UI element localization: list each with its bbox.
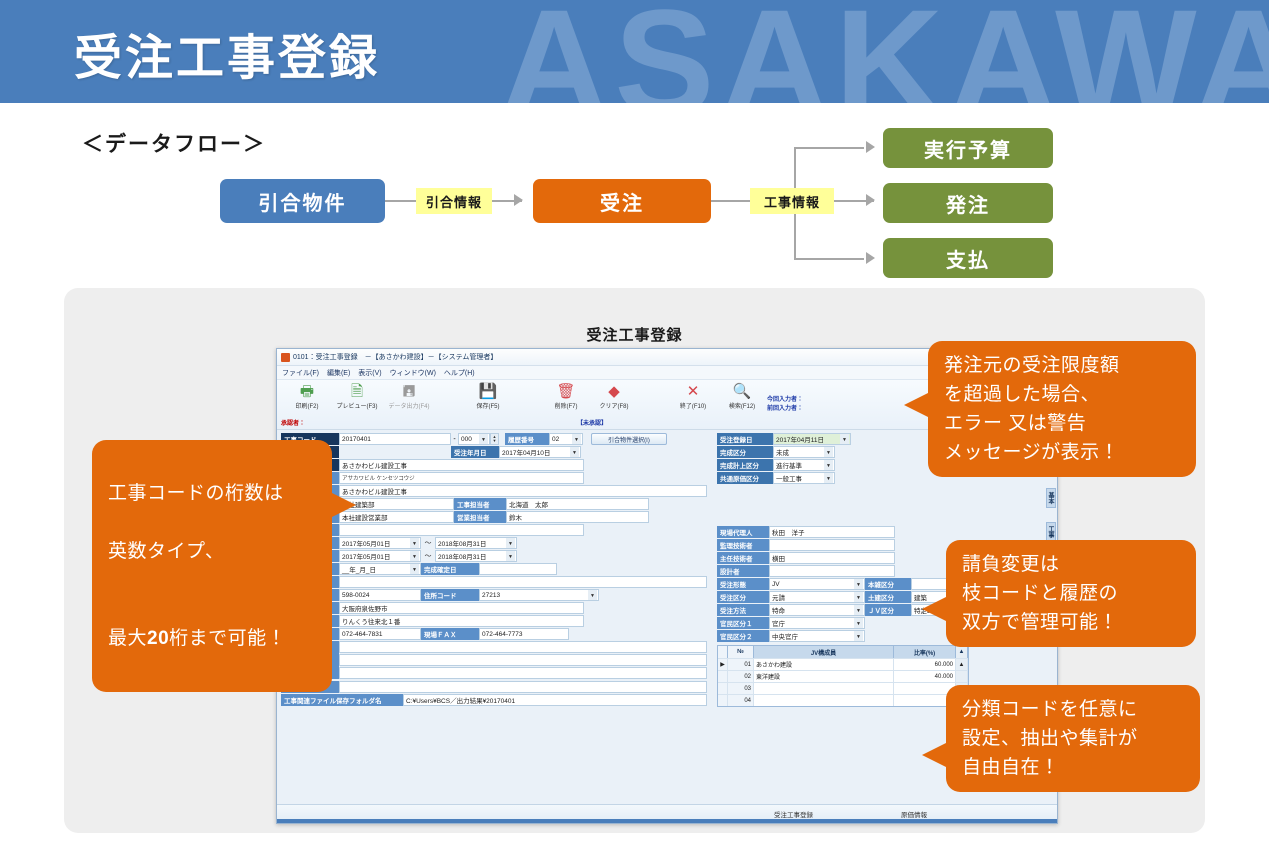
- rireki-input[interactable]: 02: [549, 433, 583, 445]
- jv-row-no-2: 02: [728, 671, 754, 682]
- form-left-column: 工事コード 20170401 - 000 ▲▼ 履歴番号 02 引合物件選択(I…: [281, 433, 711, 707]
- watermark-text: ASAKAWA: [500, 0, 1269, 103]
- approver-label: 承認者：: [281, 418, 305, 427]
- row-memo: メモ: [281, 681, 711, 693]
- flow-node-juchu[interactable]: 受注: [533, 179, 711, 223]
- jv-members-table: № JV構成員 比率(%) ▲ ▶ 01 あさかわ建設 60.000 ▲: [717, 645, 969, 707]
- koji-tanto-label: 工事担当者: [454, 498, 506, 510]
- row-genba-jusho1: 現場住所１ 大阪府泉佐野市: [281, 602, 711, 614]
- genba-dairinin-label: 現場代理人: [717, 526, 769, 538]
- app-icon: [281, 353, 290, 362]
- menu-item-file[interactable]: ファイル(F): [282, 368, 319, 378]
- toolbar-save-label: 保存(F5): [477, 401, 500, 410]
- jv-scrollbar-track-1[interactable]: [956, 671, 968, 682]
- tab-kihon[interactable]: 基本: [1046, 488, 1056, 508]
- shunin-gijutsu-input[interactable]: 横田: [769, 552, 895, 564]
- juchu-reg-input[interactable]: 2017年04月11日: [773, 433, 851, 445]
- jv-row-marker-3: [718, 683, 728, 694]
- jusho-code-label: 住所コード: [421, 589, 479, 601]
- juchu-kubun-input[interactable]: 元請: [769, 591, 865, 603]
- kansei-kakutei-label: 完成確定日: [421, 563, 479, 575]
- floppy-icon: 💾: [479, 383, 498, 400]
- sekkei-input[interactable]: [769, 565, 895, 577]
- keiyaku-koki-to-input[interactable]: 2018年08月31日: [435, 537, 517, 549]
- toolbar-export-label: データ出力(F4): [389, 401, 430, 410]
- jv-row-name-4[interactable]: [754, 695, 894, 706]
- row-genba-jusho2: 現場住所２ りんくう往来北１番: [281, 615, 711, 627]
- jv-row-name-2[interactable]: 東洋建設: [754, 671, 894, 682]
- kansei-kubun-label: 完成区分: [717, 446, 773, 458]
- juchu-kubun-label: 受注区分: [717, 591, 769, 603]
- callout-order-limit-tail: [904, 392, 930, 418]
- row-genba: 現場: [281, 576, 711, 588]
- toolbar-delete-label: 削除(F7): [555, 401, 578, 410]
- memo-input[interactable]: [339, 681, 707, 693]
- callout-code-digits: 工事コードの桁数は 英数タイプ、 最大20桁まで可能！: [92, 440, 332, 692]
- koji-name-input[interactable]: あさかわビル建設工事: [339, 459, 584, 471]
- row-koji-gaiyo: 工事概要: [281, 641, 711, 680]
- hikiai-select-button[interactable]: 引合物件選択(I): [591, 433, 667, 445]
- genba-tel-input[interactable]: 072-464-7831: [339, 628, 421, 640]
- shanai-koki-from-input[interactable]: 2017年05月01日: [339, 550, 421, 562]
- koji-gaiyo-line2[interactable]: [339, 654, 707, 666]
- toolbar-save-button[interactable]: 💾 保存(F5): [460, 383, 516, 410]
- kanmin2-label: 官民区分２: [717, 630, 769, 642]
- shunin-gijutsu-label: 主任技術者: [717, 552, 769, 564]
- eraser-icon: ◆: [608, 383, 620, 400]
- kansei-kakutei-input[interactable]: [479, 563, 557, 575]
- kanri-gijutsu-label: 監理技術者: [717, 539, 769, 551]
- kansei-keijo-input[interactable]: 進行基準: [773, 459, 835, 471]
- row-yubin: 郵便番号 598-0024 住所コード 27213: [281, 589, 711, 601]
- jv-header-name: JV構成員: [754, 646, 894, 658]
- row-keiyaku-koki: 契約工期 2017年05月01日 ～ 2018年08月31日: [281, 537, 711, 549]
- menu-item-view[interactable]: 表示(V): [358, 368, 381, 378]
- toolbar-exit-button[interactable]: ✕ 終了(F10): [665, 383, 721, 410]
- toolbar-preview-button[interactable]: 🗎 プレビュー(F3): [329, 383, 385, 410]
- folder-input[interactable]: C:¥Users¥BCS／出力結果¥20170401: [403, 694, 707, 706]
- koji-shubetsu-input[interactable]: [339, 524, 584, 536]
- row-kashi: 瑕疵担保期日 __年_月_日 完成確定日: [281, 563, 711, 575]
- flow-arrow-1: [514, 194, 523, 206]
- kanmin2-input[interactable]: 中央官庁: [769, 630, 865, 642]
- kanmin1-input[interactable]: 官庁: [769, 617, 865, 629]
- jusho-code-input[interactable]: 27213: [479, 589, 599, 601]
- jv-kubun-label: ＪＶ区分: [865, 604, 911, 616]
- genba-fax-label: 現場ＦＡＸ: [421, 628, 479, 640]
- jv-header-rate: 比率(%): [894, 646, 956, 658]
- flow-tag-hikiai-joho: 引合情報: [416, 188, 492, 214]
- jv-row-marker-1: ▶: [718, 659, 728, 670]
- table-row[interactable]: ▶ 01 あさかわ建設 60.000 ▲: [718, 658, 968, 670]
- koji-kana-input[interactable]: アサカワビル ケンセツコウジ: [339, 472, 584, 484]
- menu-item-window[interactable]: ウィンドウ(W): [390, 368, 436, 378]
- koki-range-separator: ～: [421, 538, 435, 548]
- kashi-input[interactable]: __年_月_日: [339, 563, 421, 575]
- table-row[interactable]: 04 ▼: [718, 694, 968, 706]
- koji-gaiyo-line1[interactable]: [339, 641, 707, 653]
- kanmin1-label: 官民区分１: [717, 617, 769, 629]
- sekkei-label: 設計者: [717, 565, 769, 577]
- code-separator: -: [451, 436, 458, 443]
- juchu-keitai-input[interactable]: JV: [769, 578, 865, 590]
- shanai-range-separator: ～: [421, 551, 435, 561]
- juchu-date-label: 受注年月日: [451, 446, 499, 458]
- callout-classification-code: 分類コードを任意に 設定、抽出や集計が 自由自在！: [946, 685, 1200, 792]
- menu-item-help[interactable]: ヘルプ(H): [444, 368, 475, 378]
- table-row[interactable]: 03 ▼: [718, 682, 968, 694]
- callout-code-digits-post: 桁まで可能！: [169, 628, 286, 649]
- jv-header-marker: [718, 646, 728, 658]
- tab-koji[interactable]: 工事: [1046, 522, 1056, 542]
- jv-row-name-3[interactable]: [754, 683, 894, 694]
- folder-label: 工事関連ファイル保存フォルダ名: [281, 694, 403, 706]
- branch-spinner[interactable]: ▲▼: [490, 433, 499, 445]
- statusbar-item-1: 受注工事登録: [774, 809, 813, 819]
- callout-classification-tail: [922, 742, 948, 768]
- flow-connector-3: [711, 200, 751, 202]
- callout-code-digits-line3: 最大20桁まで可能！: [108, 595, 316, 653]
- callout-code-digits-line2: 英数タイプ、: [108, 537, 316, 566]
- row-folder: 工事関連ファイル保存フォルダ名 C:¥Users¥BCS／出力結果¥201704…: [281, 694, 711, 706]
- kansei-kubun-input[interactable]: 未成: [773, 446, 835, 458]
- toolbar-search-label: 検索(F12): [729, 401, 755, 410]
- jv-row-no-1: 01: [728, 659, 754, 670]
- flow-arrow-2: [866, 141, 875, 153]
- genba-input[interactable]: [339, 576, 707, 588]
- keiyaku-koki-from-input[interactable]: 2017年05月01日: [339, 537, 421, 549]
- toolbar-search-button[interactable]: 🔍 検索(F12): [714, 383, 770, 410]
- kyotsu-genka-input[interactable]: 一般工事: [773, 472, 835, 484]
- page-title: 受注工事登録: [74, 18, 380, 88]
- kyotsu-genka-label: 共通原価区分: [717, 472, 773, 484]
- yubin-input[interactable]: 598-0024: [339, 589, 421, 601]
- callout-code-digits-pre: 最大: [108, 628, 147, 649]
- jv-row-no-4: 04: [728, 695, 754, 706]
- slide-page: ASAKAWA 受注工事登録 ＜データフロー＞ ＜画面イメージ＞ 引合物件 引合…: [0, 0, 1269, 853]
- jv-header-no: №: [728, 646, 754, 658]
- callout-code-digits-tail: [330, 492, 356, 518]
- flow-node-jikkou-yosan[interactable]: 実行予算: [883, 128, 1053, 168]
- callout-code-digits-line1: 工事コードの桁数は: [108, 479, 316, 508]
- juchu-hoho-label: 受注方法: [717, 604, 769, 616]
- callout-code-digits-number: 20: [147, 628, 169, 649]
- window-title-text: 0101：受注工事登録 －【あさかわ建設】－【システム管理者】: [293, 352, 497, 362]
- jv-table-header: № JV構成員 比率(%) ▲: [718, 646, 968, 658]
- flow-tag-koji-joho: 工事情報: [750, 188, 834, 214]
- flow-node-hacchu[interactable]: 発注: [883, 183, 1053, 223]
- toolbar-print-label: 印刷(F2): [296, 401, 319, 410]
- row-genba-dairinin: 現場代理人 秋田 洋子: [717, 526, 1047, 538]
- row-shanai-koki: 社内工期 2017年05月01日 ～ 2018年08月31日: [281, 550, 711, 562]
- kansei-keijo-label: 完成計上区分: [717, 459, 773, 471]
- toolbar-print-button[interactable]: 🖶 印刷(F2): [279, 383, 335, 410]
- flow-arrow-3: [866, 194, 875, 206]
- genba-fax-input[interactable]: 072-464-7773: [479, 628, 569, 640]
- trash-icon: 🗑: [556, 383, 575, 400]
- juchu-hoho-input[interactable]: 特命: [769, 604, 865, 616]
- current-operator-label: 今回入力者：: [767, 396, 803, 405]
- header-band: ASAKAWA 受注工事登録: [0, 0, 1269, 103]
- eigyo-tanto-label: 営業担当者: [454, 511, 506, 523]
- kanri-gijutsu-input[interactable]: [769, 539, 895, 551]
- row-koji-kana: カナ名称 アサカワビル ケンセツコウジ: [281, 472, 711, 484]
- seishiki-name-input[interactable]: あさかわビル建設工事: [339, 485, 707, 497]
- eigyo-tanto-input[interactable]: 鈴木: [506, 511, 649, 523]
- branch-code-input[interactable]: 000: [458, 433, 490, 445]
- genba-dairinin-input[interactable]: 秋田 洋子: [769, 526, 895, 538]
- koji-bumon-input[interactable]: 本社建築部: [339, 498, 454, 510]
- document-icon: 🗎: [351, 383, 363, 400]
- toolbar-clear-button[interactable]: ◆ クリア(F8): [586, 383, 642, 410]
- jv-row-rate-1[interactable]: 60.000: [894, 659, 956, 670]
- statusbar-item-2: 原価情報: [901, 809, 927, 819]
- honzatsu-label: 本雑区分: [865, 578, 911, 590]
- genba-jusho1-input[interactable]: 大阪府泉佐野市: [339, 602, 584, 614]
- flow-arrow-4: [866, 252, 875, 264]
- rireki-label: 履歴番号: [505, 433, 549, 445]
- flow-node-hikiai-bukken[interactable]: 引合物件: [220, 179, 385, 223]
- menu-item-edit[interactable]: 編集(E): [327, 368, 350, 378]
- jv-row-marker-4: [718, 695, 728, 706]
- flow-node-shiharai[interactable]: 支払: [883, 238, 1053, 278]
- toolbar-export-button[interactable]: 🖪 データ出力(F4): [381, 383, 437, 410]
- input-operator-info: 今回入力者： 前回入力者：: [767, 396, 803, 414]
- window-bottom-accent: [277, 819, 1058, 823]
- callout-order-limit: 発注元の受注限度額 を超過した場合、 エラー 又は警告 メッセージが表示！: [928, 341, 1196, 477]
- row-koji-shubetsu: 工事種別: [281, 524, 711, 536]
- juchu-date-input[interactable]: 2017年04月10日: [499, 446, 581, 458]
- row-juchu-date: 受注年月日 2017年04月10日: [281, 446, 711, 458]
- dataflow-diagram: 引合物件 引合情報 受注 工事情報 実行予算 発注 支払: [0, 118, 1269, 278]
- flow-branch-top: [794, 147, 864, 149]
- row-koji-code: 工事コード 20170401 - 000 ▲▼ 履歴番号 02 引合物件選択(I…: [281, 433, 711, 445]
- genba-jusho2-input[interactable]: りんくう往来北１番: [339, 615, 584, 627]
- koji-gaiyo-line3[interactable]: [339, 667, 707, 679]
- toolbar-exit-label: 終了(F10): [680, 401, 706, 410]
- export-icon: 🖪: [403, 383, 416, 400]
- row-koji-name: 工事名称 あさかわビル建設工事: [281, 459, 711, 471]
- callout-contract-change: 請負変更は 枝コードと履歴の 双方で管理可能！: [946, 540, 1196, 647]
- jv-row-no-3: 03: [728, 683, 754, 694]
- eigyo-bumon-input[interactable]: 本社建設営業部: [339, 511, 454, 523]
- koji-code-input[interactable]: 20170401: [339, 433, 451, 445]
- table-row[interactable]: 02 東洋建設 40.000: [718, 670, 968, 682]
- flow-connector-1: [385, 200, 417, 202]
- jv-row-name-1[interactable]: あさかわ建設: [754, 659, 894, 670]
- koji-tanto-input[interactable]: 北海道 太郎: [506, 498, 649, 510]
- juchu-keitai-label: 受注形態: [717, 578, 769, 590]
- callout-contract-change-tail: [922, 596, 948, 622]
- shanai-koki-to-input[interactable]: 2018年08月31日: [435, 550, 517, 562]
- flow-branch-bottom: [794, 258, 864, 260]
- unapproved-badge: 【未承認】: [577, 418, 607, 427]
- close-x-icon: ✕: [687, 383, 700, 400]
- toolbar-preview-label: プレビュー(F3): [337, 401, 378, 410]
- jv-row-rate-2[interactable]: 40.000: [894, 671, 956, 682]
- jv-scrollbar-up[interactable]: ▲: [956, 659, 968, 670]
- row-genba-tel: 現場ＴＥＬ 072-464-7831 現場ＦＡＸ 072-464-7773: [281, 628, 711, 640]
- toolbar-clear-label: クリア(F8): [600, 401, 629, 410]
- jv-row-marker-2: [718, 671, 728, 682]
- koji-gaiyo-textarea[interactable]: [339, 641, 707, 680]
- search-icon: 🔍: [733, 383, 752, 400]
- jv-scroll-top-button[interactable]: ▲: [956, 646, 968, 658]
- doken-kubun-label: 土建区分: [865, 591, 911, 603]
- juchu-reg-label: 受注登録日: [717, 433, 773, 445]
- printer-icon: 🖶: [300, 383, 314, 400]
- previous-operator-label: 前回入力者：: [767, 405, 803, 414]
